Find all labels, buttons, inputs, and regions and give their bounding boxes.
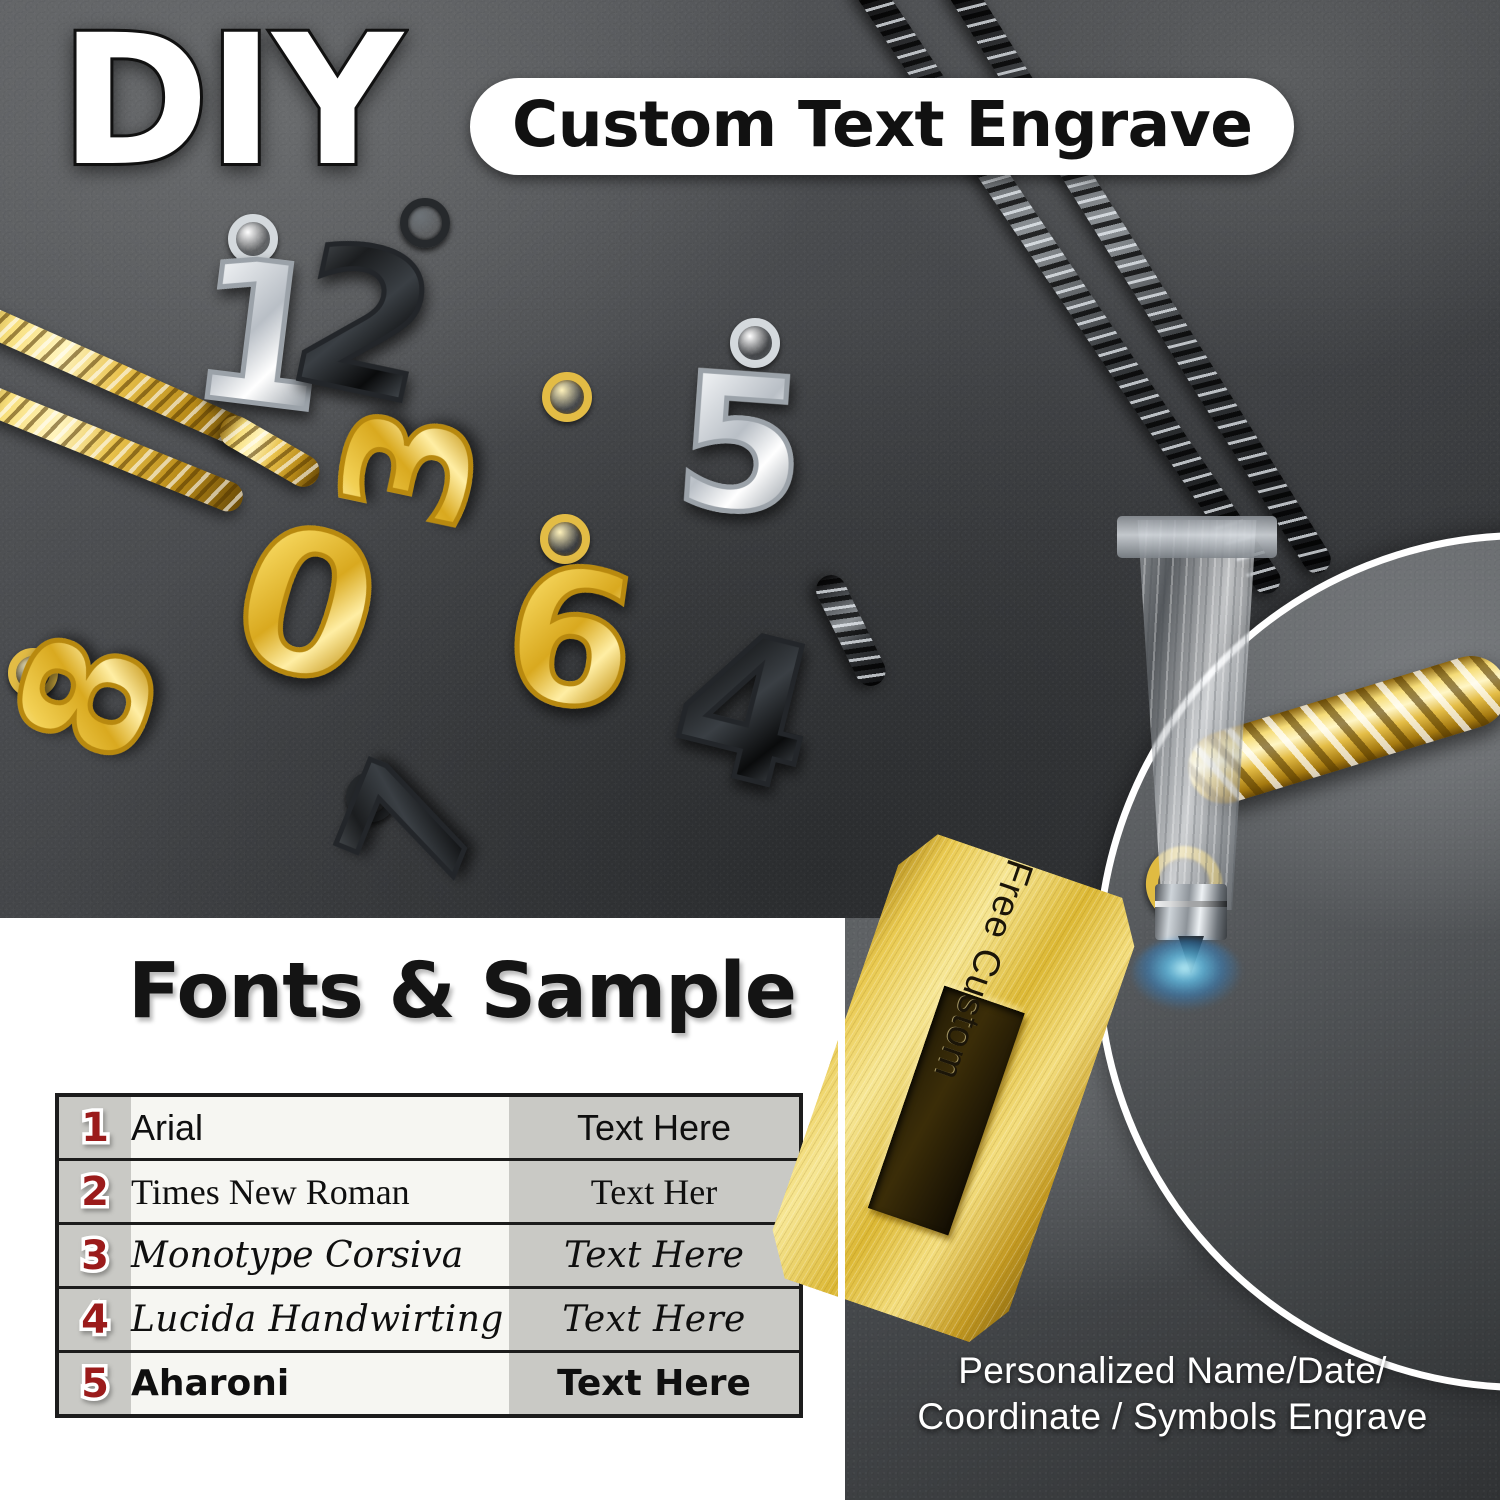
engraving-caption: Personalized Name/Date/ Coordinate / Sym… <box>845 1348 1500 1441</box>
table-row: 5 Aharoni Text Here <box>57 1352 801 1417</box>
page-title: DIY <box>60 12 401 192</box>
table-row: 1 Arial Text Here <box>57 1095 801 1160</box>
row-index: 2 <box>81 1172 109 1212</box>
product-infographic: 1 2 3 5 0 6 4 8 <box>0 0 1500 1500</box>
font-sample-cell: Text Here <box>509 1352 801 1417</box>
laser-spark-glow <box>1132 938 1242 1010</box>
pendant-digit: 6 <box>494 538 648 740</box>
custom-text-engrave-badge: Custom Text Engrave <box>470 78 1294 175</box>
font-name-cell: Aharoni <box>131 1352 509 1417</box>
row-index-cell: 3 <box>57 1224 131 1288</box>
font-sample-cell: Text Here <box>509 1095 801 1160</box>
row-index: 3 <box>81 1236 109 1276</box>
row-index: 1 <box>81 1108 109 1148</box>
pendant-6: 6 <box>494 538 648 740</box>
font-name-cell: Arial <box>131 1095 509 1160</box>
fonts-table: 1 Arial Text Here 2 Times New Roman Text… <box>55 1093 803 1418</box>
font-name-cell: Monotype Corsiva <box>131 1224 509 1288</box>
row-index: 4 <box>81 1300 109 1340</box>
caption-line-2: Coordinate / Symbols Engrave <box>845 1394 1500 1440</box>
row-index-cell: 4 <box>57 1288 131 1352</box>
fonts-section-title: Fonts & Sample <box>128 953 796 1030</box>
badge-label: Custom Text Engrave <box>512 93 1252 156</box>
row-index-cell: 2 <box>57 1160 131 1224</box>
font-name-cell: Lucida Handwirting <box>131 1288 509 1352</box>
table-row: 3 Monotype Corsiva Text Here <box>57 1224 801 1288</box>
table-row: 4 Lucida Handwirting Text Here <box>57 1288 801 1352</box>
row-index-cell: 1 <box>57 1095 131 1160</box>
font-sample-cell: Text Here <box>509 1224 801 1288</box>
pen-cap <box>1117 516 1277 558</box>
pendant-5: 5 <box>670 348 812 543</box>
table-row: 2 Times New Roman Text Her <box>57 1160 801 1224</box>
row-index-cell: 5 <box>57 1352 131 1417</box>
row-index: 5 <box>81 1364 109 1404</box>
font-sample-cell: Text Her <box>509 1160 801 1224</box>
caption-line-1: Personalized Name/Date/ <box>845 1348 1500 1394</box>
pendant-digit: 5 <box>670 348 812 543</box>
pen-metal-tip <box>1155 884 1227 940</box>
jump-ring-3 <box>542 372 592 422</box>
panel-divider <box>838 918 845 1500</box>
font-name-cell: Times New Roman <box>131 1160 509 1224</box>
font-sample-cell: Text Here <box>509 1288 801 1352</box>
